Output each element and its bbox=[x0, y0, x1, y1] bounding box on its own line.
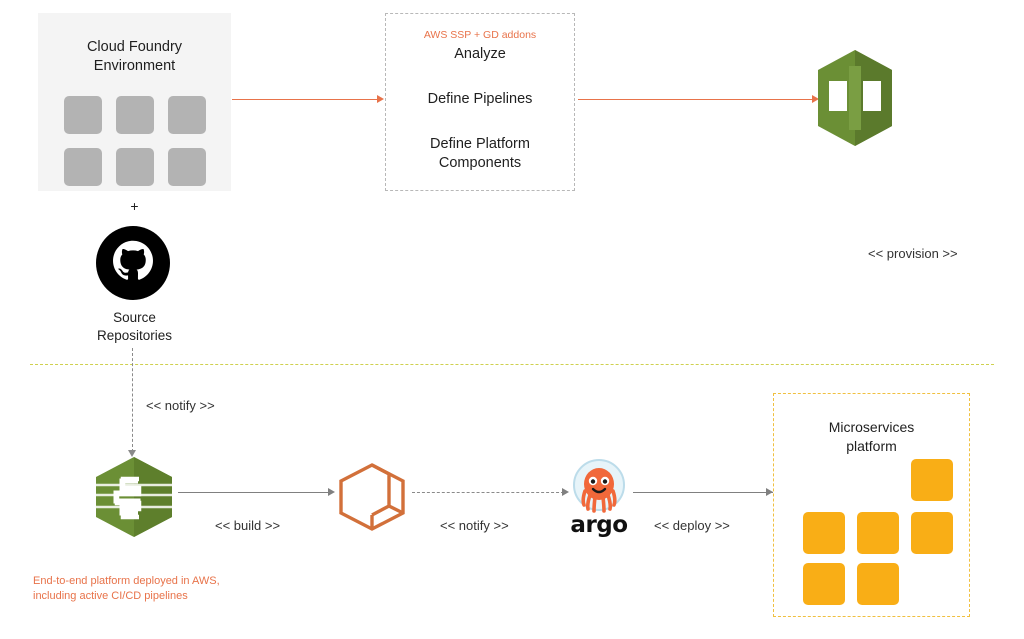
aws-ecr-cube-icon bbox=[337, 462, 407, 532]
aws-ssp-addons-label: AWS SSP + GD addons bbox=[385, 29, 575, 41]
source-repositories-label-line2: Repositories bbox=[38, 327, 231, 345]
arrow-analyze-to-eks bbox=[578, 99, 814, 100]
footer-caption-line2: including active CI/CD pipelines bbox=[33, 589, 220, 604]
cloud-foundry-tile bbox=[168, 96, 206, 134]
arrowhead-codecommit-to-ecr bbox=[328, 488, 335, 496]
microservice-tile bbox=[857, 512, 899, 554]
microservices-title-line1: Microservices bbox=[773, 418, 970, 437]
cloud-foundry-tile bbox=[64, 96, 102, 134]
cloud-foundry-title-line2: Environment bbox=[38, 57, 231, 76]
analyze-item-define-pipelines: Define Pipelines bbox=[385, 90, 575, 109]
define-platform-line2: Components bbox=[385, 154, 575, 173]
edge-label-deploy: << deploy >> bbox=[654, 518, 730, 533]
cloud-foundry-title-line1: Cloud Foundry bbox=[38, 38, 231, 57]
edge-label-notify-top: << notify >> bbox=[146, 398, 215, 413]
microservices-platform-title: Microservices platform bbox=[773, 418, 970, 456]
edge-label-build: << build >> bbox=[215, 518, 280, 533]
arrow-cloudfoundry-to-analyze bbox=[232, 99, 378, 100]
arrowhead-ecr-to-argo bbox=[562, 488, 569, 496]
arrowhead-cloudfoundry-to-analyze bbox=[377, 95, 384, 103]
arrow-github-to-codecommit bbox=[132, 348, 133, 452]
analyze-item-analyze: Analyze bbox=[385, 45, 575, 64]
arrow-ecr-to-argo bbox=[412, 492, 564, 493]
edge-label-notify-bottom: << notify >> bbox=[440, 518, 509, 533]
cloud-foundry-tile bbox=[64, 148, 102, 186]
source-repositories-label: Source Repositories bbox=[38, 309, 231, 345]
microservices-title-line2: platform bbox=[773, 437, 970, 456]
argo-octopus-icon bbox=[570, 458, 628, 516]
cloud-foundry-tile bbox=[168, 148, 206, 186]
microservice-tile bbox=[911, 459, 953, 501]
footer-caption: End-to-end platform deployed in AWS, inc… bbox=[33, 574, 220, 604]
microservice-tile bbox=[803, 512, 845, 554]
arrow-codecommit-to-ecr bbox=[178, 492, 330, 493]
define-platform-line1: Define Platform bbox=[385, 135, 575, 154]
microservice-tile bbox=[857, 563, 899, 605]
cloud-foundry-tile-grid bbox=[64, 96, 206, 186]
microservice-tile bbox=[803, 563, 845, 605]
architecture-diagram: Cloud Foundry Environment + Source Repos… bbox=[0, 0, 1024, 639]
arrowhead-argo-to-platform bbox=[766, 488, 773, 496]
footer-caption-line1: End-to-end platform deployed in AWS, bbox=[33, 574, 220, 589]
arrow-argo-to-platform bbox=[633, 492, 773, 493]
plus-symbol: + bbox=[38, 198, 231, 214]
cloud-foundry-tile bbox=[116, 148, 154, 186]
analyze-item-define-platform-components: Define Platform Components bbox=[385, 135, 575, 173]
edge-label-provision: << provision >> bbox=[868, 246, 958, 261]
aws-eks-cube-icon bbox=[818, 50, 892, 146]
argo-wordmark: argo bbox=[563, 512, 635, 538]
argo-wordmark-text: argo bbox=[570, 512, 627, 538]
github-icon bbox=[96, 226, 170, 300]
source-repositories-label-line1: Source bbox=[38, 309, 231, 327]
cloud-foundry-environment-box: Cloud Foundry Environment bbox=[38, 13, 231, 191]
cloud-foundry-title: Cloud Foundry Environment bbox=[38, 38, 231, 76]
aws-codecommit-icon bbox=[92, 455, 176, 539]
microservice-tile bbox=[911, 512, 953, 554]
cloud-foundry-tile bbox=[116, 96, 154, 134]
section-divider bbox=[30, 364, 994, 365]
